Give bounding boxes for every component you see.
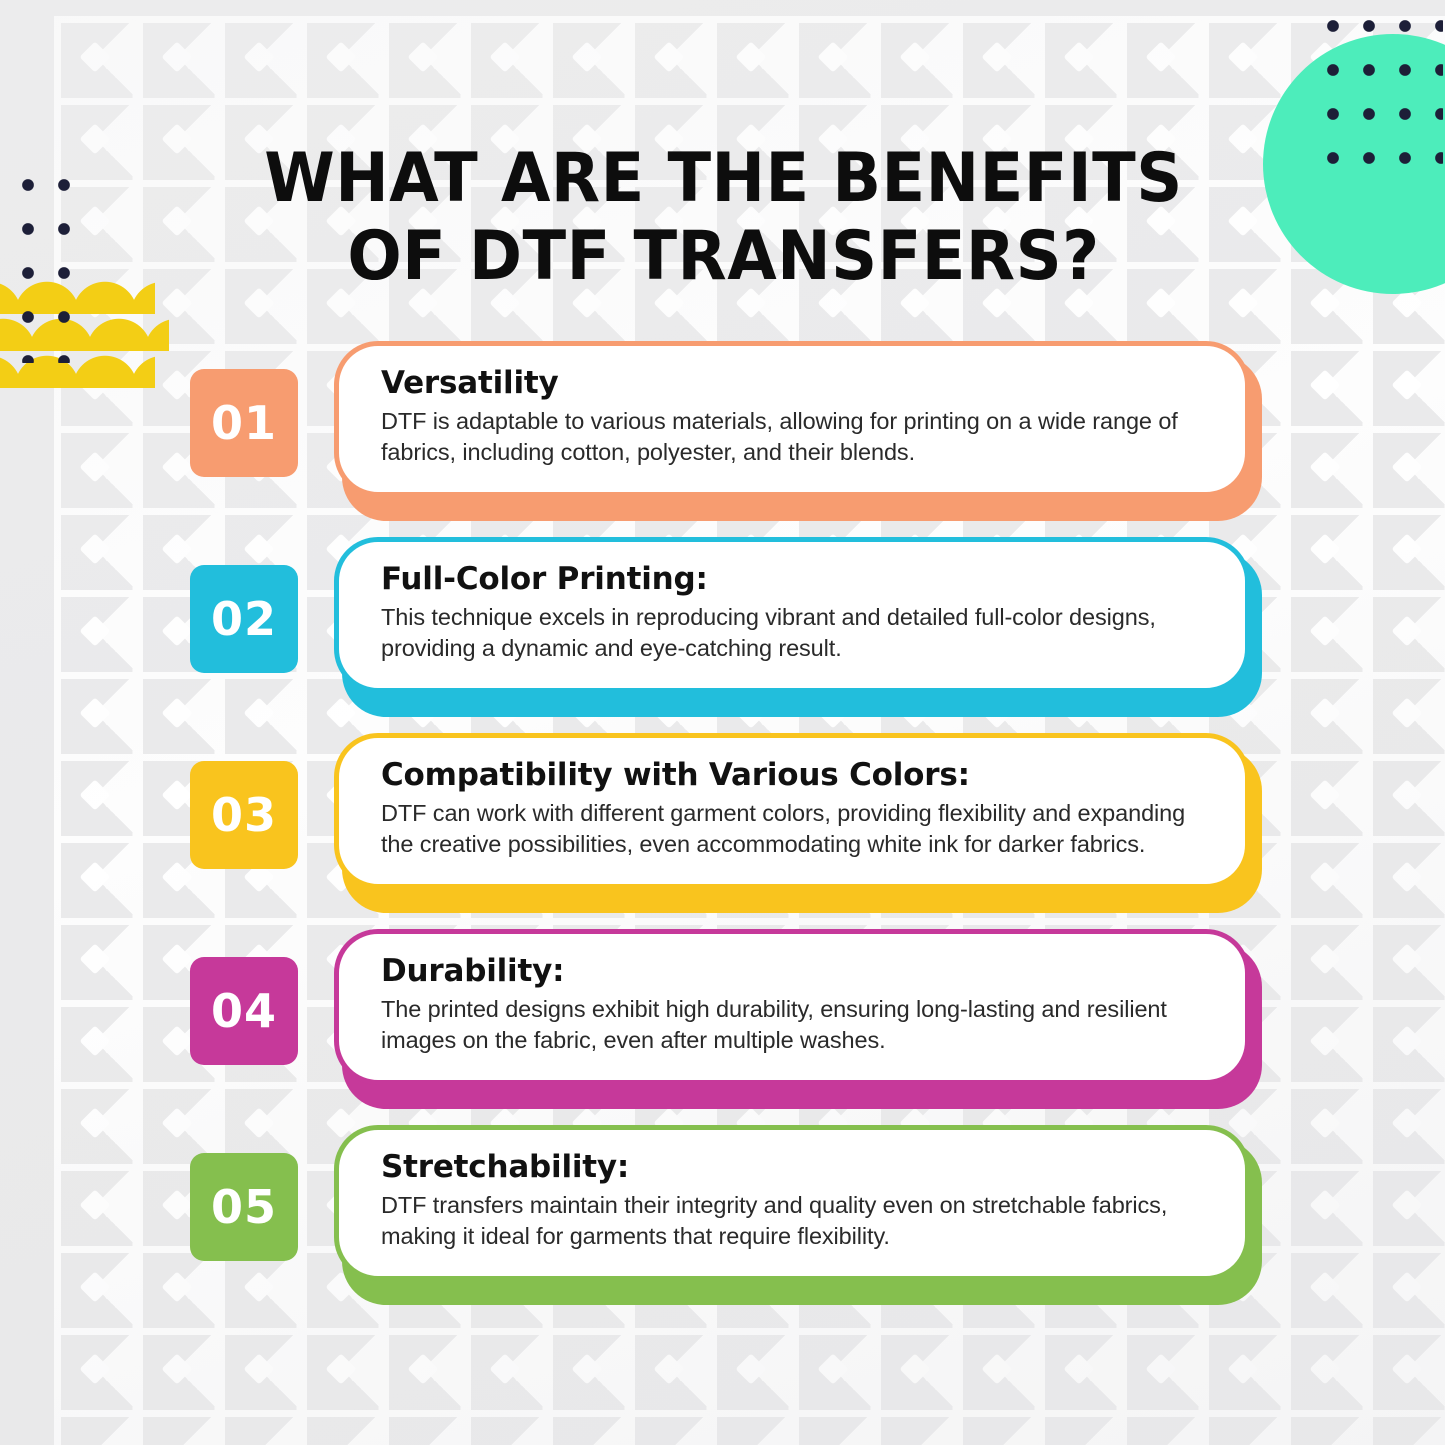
benefit-number-badge: 04 (190, 957, 298, 1065)
benefit-number-badge: 01 (190, 369, 298, 477)
decorative-teal-circle (1263, 34, 1445, 294)
grid-node-diamond (1309, 287, 1340, 318)
grid-node-diamond (1309, 1353, 1340, 1384)
benefit-title: Versatility (381, 364, 1205, 402)
benefit-card: VersatilityDTF is adaptable to various m… (334, 341, 1254, 517)
grid-node-diamond (79, 205, 110, 236)
grid-node-diamond (653, 1353, 684, 1384)
grid-node-diamond (981, 41, 1012, 72)
benefit-card-body: Compatibility with Various Colors:DTF ca… (334, 733, 1250, 889)
benefit-description: This technique excels in reproducing vib… (381, 602, 1205, 664)
grid-node-diamond (571, 1353, 602, 1384)
benefit-row: 05Stretchability:DTF transfers maintain … (0, 1125, 1445, 1321)
benefit-row: 03Compatibility with Various Colors:DTF … (0, 733, 1445, 929)
grid-node-diamond (817, 1353, 848, 1384)
benefit-description: The printed designs exhibit high durabil… (381, 994, 1205, 1056)
grid-node-diamond (1227, 1353, 1258, 1384)
grid-node-diamond (79, 41, 110, 72)
benefit-title: Compatibility with Various Colors: (381, 756, 1205, 794)
benefit-card: Stretchability:DTF transfers maintain th… (334, 1125, 1254, 1301)
semicircle-row (0, 280, 155, 314)
benefit-row: 04Durability:The printed designs exhibit… (0, 929, 1445, 1125)
grid-node-diamond (899, 1353, 930, 1384)
benefit-title: Stretchability: (381, 1148, 1205, 1186)
benefit-description: DTF can work with different garment colo… (381, 798, 1205, 860)
benefit-card-body: Full-Color Printing:This technique excel… (334, 537, 1250, 693)
grid-node-diamond (489, 1353, 520, 1384)
grid-node-diamond (325, 41, 356, 72)
benefit-title: Full-Color Printing: (381, 560, 1205, 598)
benefit-row: 02Full-Color Printing:This technique exc… (0, 537, 1445, 733)
benefit-card-body: Durability:The printed designs exhibit h… (334, 929, 1250, 1085)
grid-node-diamond (653, 41, 684, 72)
grid-node-diamond (571, 41, 602, 72)
grid-node-diamond (735, 41, 766, 72)
page-title: WHAT ARE THE BENEFITS OF DTF TRANSFERS? (209, 140, 1238, 296)
benefit-description: DTF is adaptable to various materials, a… (381, 406, 1205, 468)
grid-node-diamond (1145, 41, 1176, 72)
benefit-card-body: Stretchability:DTF transfers maintain th… (334, 1125, 1250, 1281)
grid-node-diamond (1391, 1353, 1422, 1384)
benefit-number-badge: 03 (190, 761, 298, 869)
grid-node-diamond (1063, 1353, 1094, 1384)
grid-node-diamond (325, 1353, 356, 1384)
grid-node-diamond (735, 1353, 766, 1384)
benefits-list: 01VersatilityDTF is adaptable to various… (0, 341, 1445, 1321)
grid-node-diamond (817, 41, 848, 72)
grid-node-diamond (161, 123, 192, 154)
grid-node-diamond (243, 1353, 274, 1384)
grid-node-diamond (1145, 1353, 1176, 1384)
grid-node-diamond (489, 41, 520, 72)
grid-node-diamond (79, 123, 110, 154)
grid-node-diamond (161, 1353, 192, 1384)
grid-node-diamond (161, 205, 192, 236)
benefit-number-badge: 02 (190, 565, 298, 673)
benefit-row: 01VersatilityDTF is adaptable to various… (0, 341, 1445, 537)
benefit-card-body: VersatilityDTF is adaptable to various m… (334, 341, 1250, 497)
grid-node-diamond (1063, 41, 1094, 72)
grid-node-diamond (79, 1353, 110, 1384)
benefit-description: DTF transfers maintain their integrity a… (381, 1190, 1205, 1252)
benefit-card: Durability:The printed designs exhibit h… (334, 929, 1254, 1105)
grid-node-diamond (1227, 41, 1258, 72)
grid-node-diamond (407, 1353, 438, 1384)
grid-node-diamond (899, 41, 930, 72)
grid-node-diamond (407, 41, 438, 72)
benefit-number-badge: 05 (190, 1153, 298, 1261)
benefit-card: Compatibility with Various Colors:DTF ca… (334, 733, 1254, 909)
grid-node-diamond (981, 1353, 1012, 1384)
benefit-card: Full-Color Printing:This technique excel… (334, 537, 1254, 713)
infographic-poster: WHAT ARE THE BENEFITS OF DTF TRANSFERS? … (0, 0, 1445, 1445)
benefit-title: Durability: (381, 952, 1205, 990)
grid-node-diamond (161, 287, 192, 318)
grid-node-diamond (161, 41, 192, 72)
grid-node-diamond (243, 41, 274, 72)
